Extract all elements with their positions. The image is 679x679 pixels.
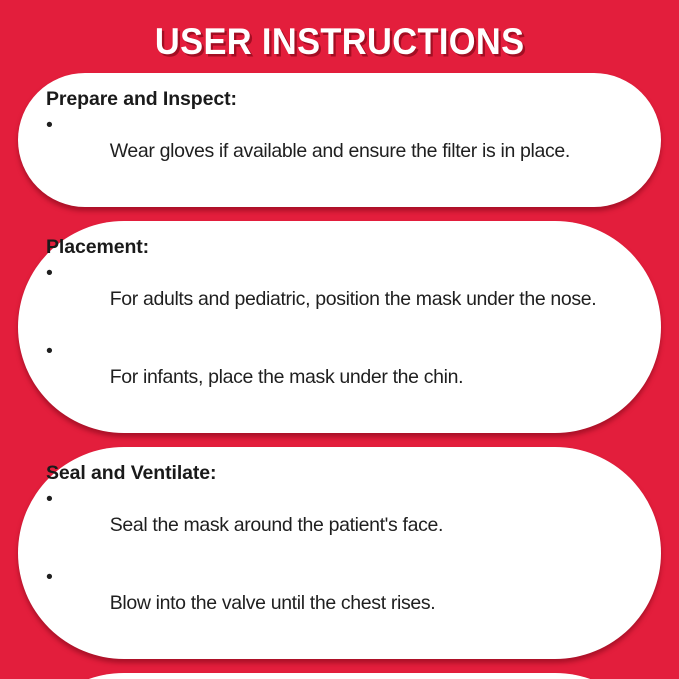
list-item: •Wear gloves if available and ensure the…	[46, 113, 631, 191]
list-item: •For adults and pediatric, position the …	[46, 261, 631, 339]
bullet-icon: •	[46, 565, 52, 591]
card-heading: Prepare and Inspect:	[46, 87, 631, 112]
bullet-icon: •	[46, 113, 52, 139]
instruction-card: Repeat and Monitor: •Allow the patient t…	[18, 673, 661, 679]
list-item-text: Blow into the valve until the chest rise…	[110, 592, 436, 614]
user-instructions-poster: USER INSTRUCTIONS Prepare and Inspect: •…	[0, 0, 679, 679]
card-heading: Seal and Ventilate:	[46, 461, 631, 486]
list-item-text: Wear gloves if available and ensure the …	[110, 140, 570, 162]
card-bullet-list: •For adults and pediatric, position the …	[46, 261, 631, 417]
bullet-icon: •	[46, 487, 52, 513]
list-item-text: For adults and pediatric, position the m…	[110, 288, 597, 310]
bullet-icon: •	[46, 339, 52, 365]
poster-header: USER INSTRUCTIONS	[0, 0, 679, 73]
list-item: •For infants, place the mask under the c…	[46, 339, 631, 417]
list-item-text: Seal the mask around the patient's face.	[110, 514, 443, 536]
instruction-card: Seal and Ventilate: •Seal the mask aroun…	[18, 447, 661, 659]
instruction-card: Placement: •For adults and pediatric, po…	[18, 221, 661, 433]
card-heading: Placement:	[46, 235, 631, 260]
instruction-card: Prepare and Inspect: •Wear gloves if ava…	[18, 73, 661, 207]
list-item: •Seal the mask around the patient's face…	[46, 487, 631, 565]
list-item: •Blow into the valve until the chest ris…	[46, 565, 631, 643]
list-item-text: For infants, place the mask under the ch…	[110, 366, 463, 388]
page-title: USER INSTRUCTIONS	[155, 23, 525, 60]
card-bullet-list: •Wear gloves if available and ensure the…	[46, 113, 631, 191]
bullet-icon: •	[46, 261, 52, 287]
card-bullet-list: •Seal the mask around the patient's face…	[46, 487, 631, 643]
instruction-card-list: Prepare and Inspect: •Wear gloves if ava…	[0, 73, 679, 679]
